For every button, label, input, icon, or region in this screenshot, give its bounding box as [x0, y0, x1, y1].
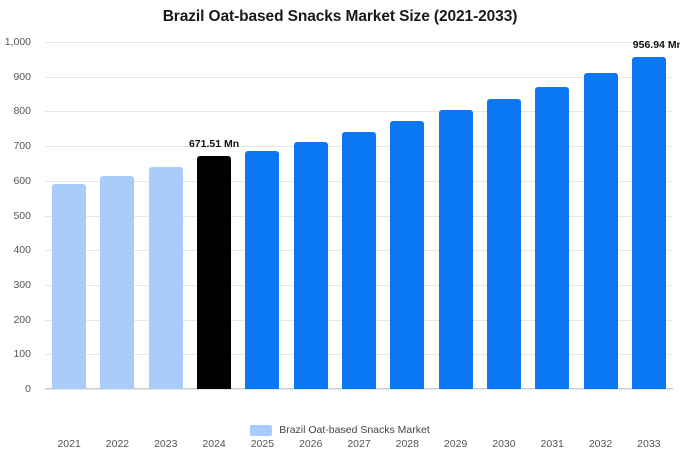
x-tick-label: 2023 [142, 438, 190, 450]
y-tick-label: 600 [0, 175, 31, 187]
bar[interactable] [487, 99, 521, 389]
x-tick-label: 2021 [45, 438, 93, 450]
bar-slot [142, 42, 190, 389]
bar-slot: 671.51 Mn [190, 42, 238, 389]
x-tick-label: 2029 [431, 438, 479, 450]
chart-container: Brazil Oat-based Snacks Market Size (202… [0, 0, 680, 450]
x-tick-label: 2032 [576, 438, 624, 450]
y-tick-label: 1,000 [0, 36, 31, 48]
bar-slot [480, 42, 528, 389]
bar[interactable] [245, 151, 279, 389]
chart-title: Brazil Oat-based Snacks Market Size (202… [0, 8, 680, 26]
y-tick-label: 200 [0, 314, 31, 326]
x-tick-label: 2031 [528, 438, 576, 450]
x-tick-label: 2024 [190, 438, 238, 450]
plot-area: 01002003004005006007008009001,000 671.51… [45, 42, 673, 389]
bar-series: 671.51 Mn956.94 Mn [45, 42, 673, 389]
bar[interactable] [535, 87, 569, 389]
y-tick-label: 400 [0, 244, 31, 256]
bar-slot [45, 42, 93, 389]
bar[interactable] [197, 156, 231, 389]
bar[interactable] [52, 184, 86, 389]
y-tick-label: 900 [0, 71, 31, 83]
bar[interactable] [390, 121, 424, 389]
bar-slot [431, 42, 479, 389]
y-tick-label: 300 [0, 279, 31, 291]
y-tick-label: 800 [0, 105, 31, 117]
bar-value-label: 671.51 Mn [189, 138, 239, 150]
bar[interactable] [439, 110, 473, 389]
bar-slot [383, 42, 431, 389]
bar[interactable] [584, 73, 618, 389]
y-tick-label: 700 [0, 140, 31, 152]
bar-slot [287, 42, 335, 389]
x-tick-label: 2028 [383, 438, 431, 450]
bar-slot: 956.94 Mn [625, 42, 673, 389]
bar-slot [335, 42, 383, 389]
x-tick-label: 2022 [93, 438, 141, 450]
bar[interactable] [100, 176, 134, 389]
bar[interactable] [294, 142, 328, 389]
x-tick-label: 2026 [287, 438, 335, 450]
bar[interactable] [149, 167, 183, 389]
legend-swatch-icon [250, 425, 272, 436]
bar[interactable] [342, 132, 376, 389]
bar-slot [576, 42, 624, 389]
bar-slot [528, 42, 576, 389]
x-tick-label: 2027 [335, 438, 383, 450]
y-tick-label: 500 [0, 210, 31, 222]
x-tick-label: 2025 [238, 438, 286, 450]
bar-slot [238, 42, 286, 389]
bar[interactable] [632, 57, 666, 389]
x-tick-label: 2030 [480, 438, 528, 450]
x-tick-label: 2033 [625, 438, 673, 450]
bar-slot [93, 42, 141, 389]
y-tick-label: 100 [0, 348, 31, 360]
gridline [45, 389, 673, 390]
y-tick-label: 0 [0, 383, 31, 395]
chart-legend: Brazil Oat-based Snacks Market [0, 424, 680, 436]
bar-value-label: 956.94 Mn [633, 39, 680, 51]
legend-label: Brazil Oat-based Snacks Market [279, 424, 430, 436]
